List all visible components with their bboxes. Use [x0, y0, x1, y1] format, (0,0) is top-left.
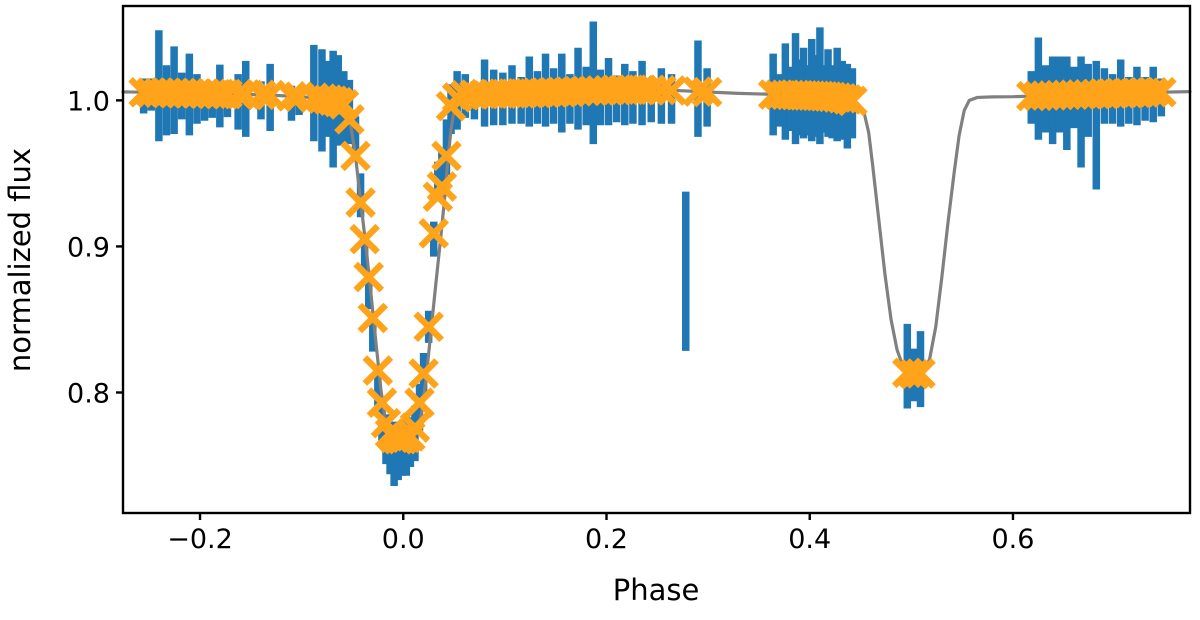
- x-axis-title: Phase: [613, 573, 700, 607]
- y-tick-label: 0.8: [67, 378, 110, 409]
- y-axis-title: normalized flux: [3, 148, 37, 372]
- x-tick-label: 0.2: [585, 524, 628, 555]
- x-tick-label: 0.0: [382, 524, 425, 555]
- plot-canvas: −0.20.00.20.40.61.00.90.8 Phase normaliz…: [0, 0, 1200, 620]
- y-tick-label: 1.0: [67, 86, 110, 117]
- x-tick-label: 0.4: [788, 524, 831, 555]
- y-tick-label: 0.9: [67, 232, 110, 263]
- x-tick-label: −0.2: [167, 524, 233, 555]
- light-curve-figure: −0.20.00.20.40.61.00.90.8 Phase normaliz…: [0, 0, 1200, 620]
- x-tick-label: 0.6: [992, 524, 1035, 555]
